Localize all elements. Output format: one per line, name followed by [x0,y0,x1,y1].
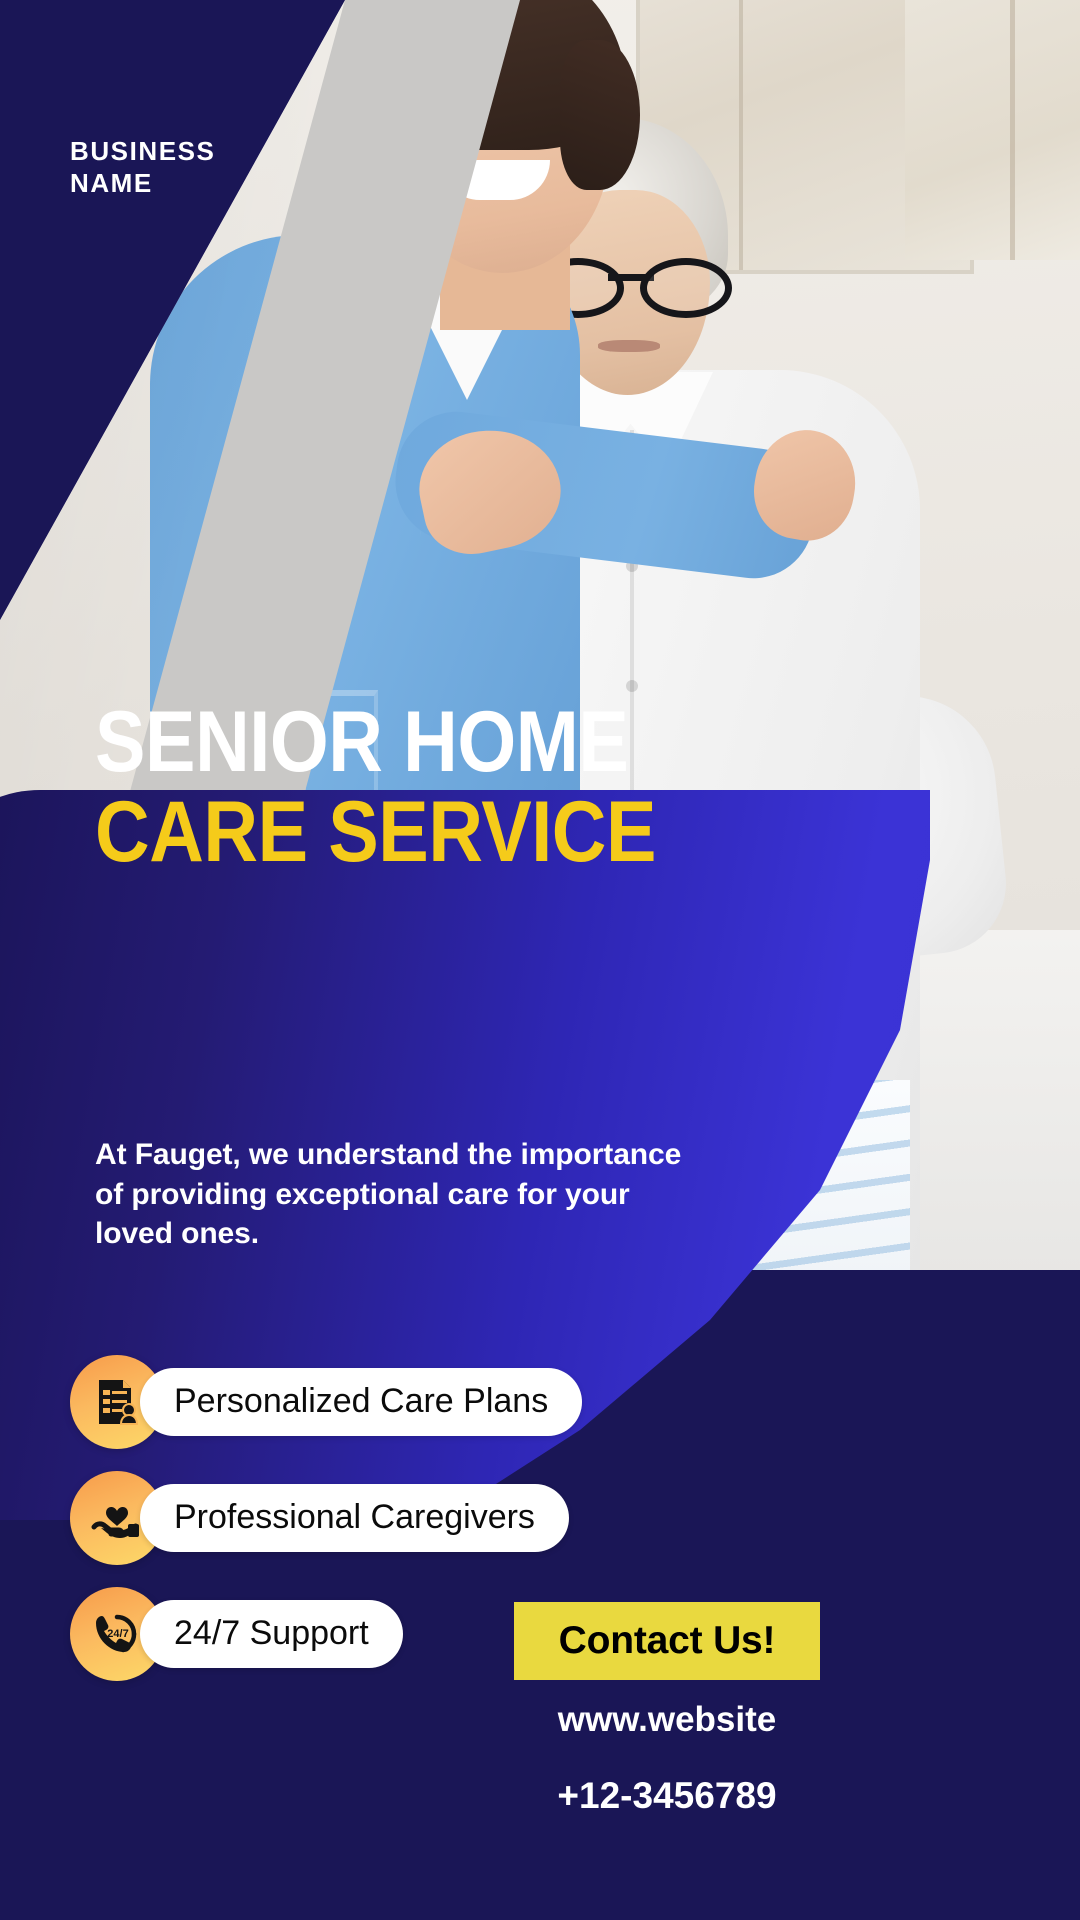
feature-label: Professional Caregivers [140,1484,569,1552]
svg-text:24/7: 24/7 [107,1628,128,1640]
business-name: BUSINESS NAME [70,136,215,199]
lede-paragraph: At Fauget, we understand the importance … [95,1135,695,1254]
feature-item-caregivers[interactable]: Professional Caregivers [70,1471,582,1565]
headline-block: SENIOR HOME CARE SERVICE [95,700,795,875]
feature-label: 24/7 Support [140,1600,403,1668]
poster-canvas: BUSINESS NAME SENIOR HOME CARE SERVICE A… [0,0,1080,1920]
website-text[interactable]: www.website [514,1700,820,1740]
headline-line-2: CARE SERVICE [95,790,711,874]
feature-item-care-plans[interactable]: Personalized Care Plans [70,1355,582,1449]
feature-label: Personalized Care Plans [140,1368,582,1436]
feature-item-support[interactable]: 24/7 24/7 Support [70,1587,582,1681]
phone-text[interactable]: +12-3456789 [514,1775,820,1817]
headline-line-1: SENIOR HOME [95,700,711,784]
contact-us-button[interactable]: Contact Us! [514,1602,820,1680]
feature-list: Personalized Care Plans Professional Car… [70,1355,582,1703]
